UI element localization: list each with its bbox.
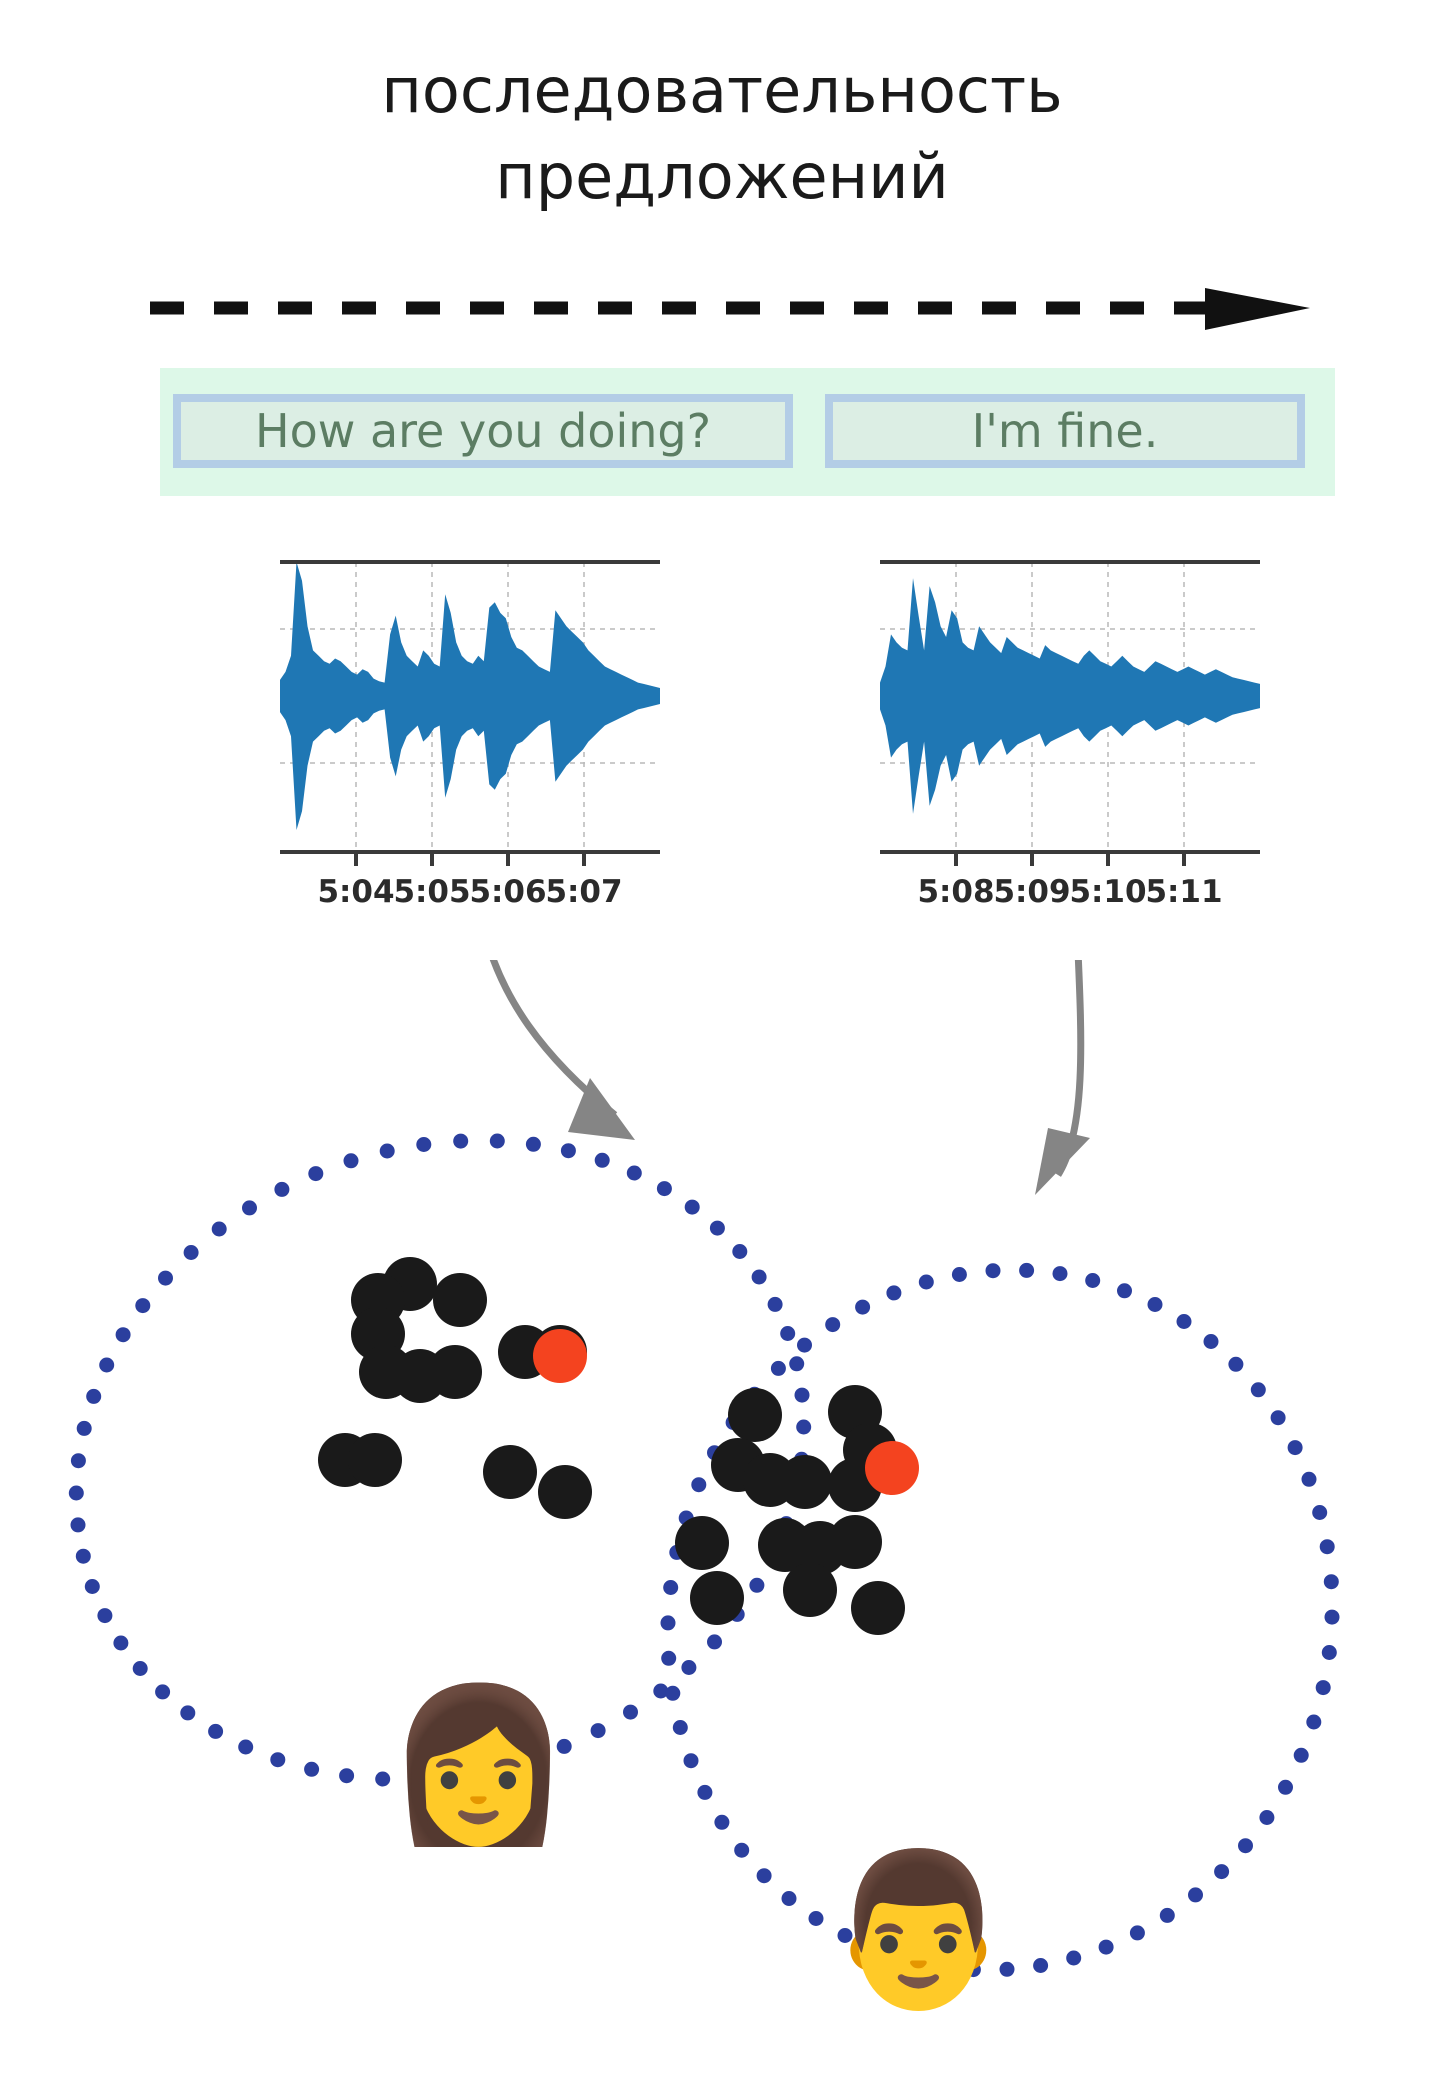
boundary-dot: [155, 1684, 170, 1699]
page-title: последовательность предложений: [0, 48, 1444, 220]
boundary-dot: [714, 1815, 729, 1830]
boundary-dot: [1288, 1440, 1303, 1455]
avatar-female: 👩: [385, 1690, 572, 1840]
boundary-dot: [274, 1182, 289, 1197]
boundary-dot: [1085, 1273, 1100, 1288]
boundary-dot: [339, 1768, 354, 1783]
boundary-dot: [1228, 1357, 1243, 1372]
boundary-dot: [1066, 1951, 1081, 1966]
boundary-dot: [796, 1420, 811, 1435]
infographic-page: последовательность предложений How are y…: [0, 0, 1444, 2088]
boundary-dot: [1294, 1748, 1309, 1763]
boundary-dot: [663, 1580, 678, 1595]
connector-arrow-female: [474, 960, 635, 1140]
axis-tick-label: 5:07: [545, 874, 622, 910]
boundary-dot: [825, 1317, 840, 1332]
boundary-dot: [561, 1143, 576, 1158]
waveform-how-are-you-doing: [280, 562, 660, 830]
boundary-dot: [242, 1200, 257, 1215]
cluster-point: [828, 1515, 882, 1569]
boundary-dot: [757, 1868, 772, 1883]
boundary-dot: [771, 1361, 786, 1376]
boundary-dot: [116, 1327, 131, 1342]
cluster-point: [428, 1345, 482, 1399]
boundary-dot: [697, 1785, 712, 1800]
boundary-dot: [133, 1661, 148, 1676]
boundary-dot: [795, 1388, 810, 1403]
boundary-dot: [1312, 1505, 1327, 1520]
boundary-dot: [657, 1181, 672, 1196]
boundary-dot: [86, 1389, 101, 1404]
boundary-dot: [1019, 1263, 1034, 1278]
axis-tick-label: 5:06: [469, 874, 546, 910]
boundary-dot: [1188, 1887, 1203, 1902]
boundary-dot: [1117, 1283, 1132, 1298]
connector-arrow-male: [1035, 960, 1090, 1195]
boundary-dot: [952, 1267, 967, 1282]
boundary-dot: [1320, 1539, 1335, 1554]
boundary-dot: [855, 1300, 870, 1315]
boundary-dot: [1259, 1810, 1274, 1825]
boundary-dot: [526, 1137, 541, 1152]
boundary-dot: [76, 1549, 91, 1564]
boundary-dot: [180, 1705, 195, 1720]
axis-tick-label: 5:05: [393, 874, 470, 910]
boundary-dot: [238, 1740, 253, 1755]
boundary-dot: [1033, 1958, 1048, 1973]
boundary-dot: [673, 1720, 688, 1735]
boundary-dot: [595, 1153, 610, 1168]
boundary-dot: [797, 1338, 812, 1353]
boundary-dot: [135, 1298, 150, 1313]
page-title-line-2: предложений: [0, 134, 1444, 220]
boundary-dot: [99, 1358, 114, 1373]
boundary-dot: [490, 1134, 505, 1149]
cluster-point-highlighted: [533, 1329, 587, 1383]
boundary-dot: [208, 1724, 223, 1739]
cluster-point: [783, 1563, 837, 1617]
boundary-dot: [1278, 1780, 1293, 1795]
waveform-panel-0: 5:045:055:065:07: [250, 540, 670, 960]
boundary-dot: [1325, 1610, 1340, 1625]
sentence-box-0[interactable]: How are you doing?: [173, 394, 793, 468]
boundary-dot: [1324, 1574, 1339, 1589]
arrowhead-icon: [1205, 288, 1310, 330]
arrowhead-icon: [1035, 1128, 1090, 1195]
embedding-space: [0, 960, 1444, 2088]
boundary-dot: [85, 1579, 100, 1594]
boundary-dot: [623, 1705, 638, 1720]
page-title-line-1: последовательность: [0, 48, 1444, 134]
boundary-dot: [732, 1244, 747, 1259]
waveform-panel-1: 5:085:095:105:11: [850, 540, 1270, 960]
boundary-dot: [591, 1723, 606, 1738]
sentence-box-1[interactable]: I'm fine.: [825, 394, 1305, 468]
boundary-dot: [886, 1285, 901, 1300]
sentence-text-1: I'm fine.: [833, 402, 1297, 460]
cluster-points-female: [318, 1257, 592, 1519]
waveform-im-fine: [880, 578, 1260, 814]
boundary-dot: [1214, 1864, 1229, 1879]
axis-tick-label: 5:10: [1069, 874, 1146, 910]
boundary-dot: [919, 1275, 934, 1290]
boundary-dot: [308, 1166, 323, 1181]
boundary-dot: [71, 1453, 86, 1468]
cluster-point: [483, 1445, 537, 1499]
axis-tick-label: 5:11: [1145, 874, 1222, 910]
cluster-point: [538, 1465, 592, 1519]
boundary-dot: [809, 1911, 824, 1926]
boundary-dot: [344, 1153, 359, 1168]
boundary-dot: [1204, 1334, 1219, 1349]
boundary-dot: [752, 1270, 767, 1285]
boundary-dot: [1322, 1645, 1337, 1660]
boundary-dot: [71, 1517, 86, 1532]
boundary-dot: [986, 1263, 1001, 1278]
boundary-dot: [780, 1326, 795, 1341]
boundary-dot: [1238, 1838, 1253, 1853]
cluster-point: [348, 1433, 402, 1487]
boundary-dot: [1177, 1314, 1192, 1329]
boundary-dot: [707, 1634, 722, 1649]
avatar-male: 👨: [825, 1855, 1012, 2005]
boundary-dot: [1316, 1680, 1331, 1695]
boundary-dot: [1302, 1472, 1317, 1487]
boundary-dot: [1099, 1940, 1114, 1955]
boundary-dot: [665, 1686, 680, 1701]
boundary-dot: [734, 1843, 749, 1858]
boundary-dot: [212, 1222, 227, 1237]
boundary-dot: [627, 1166, 642, 1181]
boundary-dot: [380, 1144, 395, 1159]
boundary-dot: [69, 1486, 84, 1501]
cluster-points-male: [675, 1385, 919, 1635]
timeline-axis: [150, 288, 1310, 348]
boundary-dot: [1306, 1715, 1321, 1730]
boundary-dot: [1251, 1382, 1266, 1397]
sentence-sequence-band: How are you doing? I'm fine.: [160, 368, 1335, 496]
boundary-dot: [113, 1636, 128, 1651]
cluster-point-highlighted: [865, 1441, 919, 1495]
cluster-point: [675, 1516, 729, 1570]
boundary-dot: [782, 1891, 797, 1906]
boundary-dot: [77, 1421, 92, 1436]
boundary-dot: [681, 1660, 696, 1675]
boundary-dot: [1271, 1410, 1286, 1425]
cluster-point: [778, 1455, 832, 1509]
boundary-dot: [768, 1297, 783, 1312]
axis-tick-label: 5:04: [317, 874, 394, 910]
boundary-dot: [710, 1221, 725, 1236]
cluster-point: [851, 1581, 905, 1635]
boundary-dot: [684, 1753, 699, 1768]
axis-tick-label: 5:09: [993, 874, 1070, 910]
cluster-point: [728, 1388, 782, 1442]
boundary-dot: [1148, 1297, 1163, 1312]
boundary-dot: [158, 1271, 173, 1286]
boundary-dot: [789, 1356, 804, 1371]
cluster-point: [690, 1571, 744, 1625]
axis-tick-label: 5:08: [917, 874, 994, 910]
boundary-dot: [184, 1245, 199, 1260]
boundary-dot: [453, 1134, 468, 1149]
sentence-text-0: How are you doing?: [181, 402, 785, 460]
boundary-dot: [97, 1608, 112, 1623]
boundary-dot: [685, 1200, 700, 1215]
boundary-dot: [661, 1615, 676, 1630]
boundary-dot: [749, 1578, 764, 1593]
boundary-dot: [270, 1752, 285, 1767]
boundary-dot: [1130, 1925, 1145, 1940]
boundary-dot: [661, 1651, 676, 1666]
cluster-point: [433, 1273, 487, 1327]
boundary-dot: [1160, 1908, 1175, 1923]
boundary-dot: [416, 1137, 431, 1152]
boundary-dot: [304, 1762, 319, 1777]
boundary-dot: [1053, 1266, 1068, 1281]
boundary-dot: [691, 1477, 706, 1492]
